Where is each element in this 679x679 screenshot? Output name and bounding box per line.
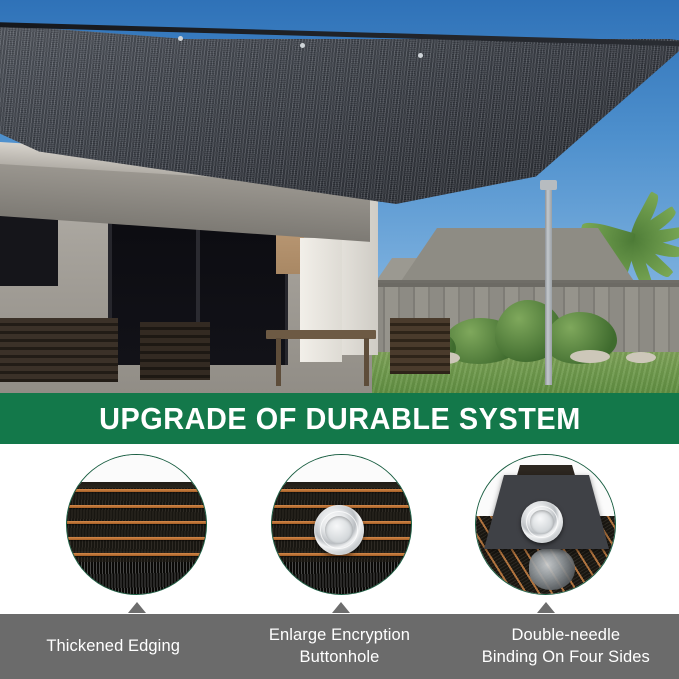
garden-chair <box>390 318 450 374</box>
feature-circle-double-needle-binding <box>475 454 616 595</box>
hero-photo <box>0 0 679 393</box>
pole-cap <box>540 180 557 190</box>
wall-pillar <box>300 238 342 362</box>
support-pole <box>545 185 552 385</box>
mesh-raw-edge <box>272 562 411 595</box>
sail-fastener <box>300 43 305 48</box>
caption-line: Binding On Four Sides <box>482 647 650 669</box>
caption-double-needle-binding: Double-needle Binding On Four Sides <box>453 614 679 679</box>
garden-rock <box>626 352 656 363</box>
sail-fastener <box>178 36 183 41</box>
grommet-icon <box>521 501 563 543</box>
feature-detail-row <box>0 444 679 614</box>
grommet-icon <box>314 505 364 555</box>
edge-band <box>272 482 411 488</box>
caption-line: Buttonhole <box>300 647 380 669</box>
pointer-triangle-icon <box>128 602 146 613</box>
thickened-edge-band <box>67 482 206 488</box>
table-leg <box>364 338 369 386</box>
gravel-detail <box>529 548 575 590</box>
caption-buttonhole: Enlarge Encryption Buttonhole <box>226 614 452 679</box>
feature-circle-thickened-edging <box>66 454 207 595</box>
patio-table <box>266 330 376 339</box>
feature-circle-buttonhole <box>271 454 412 595</box>
outdoor-chair <box>140 322 210 380</box>
product-feature-image: UPGRADE OF DURABLE SYSTEM <box>0 0 679 679</box>
table-leg <box>276 338 281 386</box>
caption-line: Double-needle <box>512 625 621 647</box>
sail-fastener <box>418 53 423 58</box>
caption-thickened-edging: Thickened Edging <box>0 614 226 679</box>
caption-bar: Thickened Edging Enlarge Encryption Butt… <box>0 614 679 679</box>
pointer-triangle-icon <box>537 602 555 613</box>
outdoor-bench <box>0 318 118 382</box>
caption-line: Thickened Edging <box>46 636 180 658</box>
garden-rock <box>570 350 610 363</box>
mesh-fabric <box>67 485 206 595</box>
pointer-triangle-icon <box>332 602 350 613</box>
fence-rail <box>370 283 679 287</box>
headline-text: UPGRADE OF DURABLE SYSTEM <box>99 401 581 437</box>
headline-banner: UPGRADE OF DURABLE SYSTEM <box>0 393 679 444</box>
mesh-raw-edge <box>67 562 206 595</box>
caption-line: Enlarge Encryption <box>269 625 410 647</box>
